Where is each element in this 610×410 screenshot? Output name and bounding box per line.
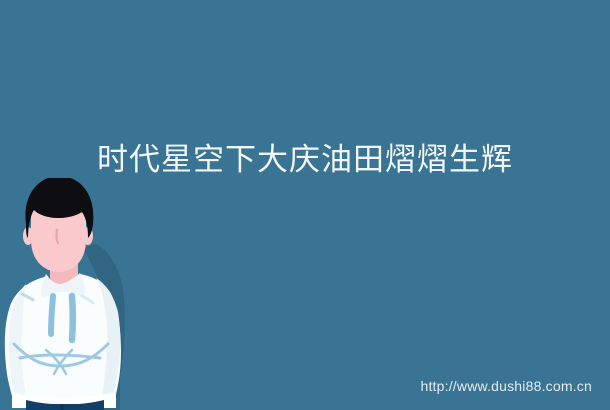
pants-fill bbox=[26, 404, 104, 410]
source-url-watermark: http://www.dushi88.com.cn bbox=[420, 377, 592, 395]
screenshot-canvas: 时代星空下大庆油田熠熠生辉 http://www.dushi88.com.cn bbox=[0, 0, 610, 410]
drawstring-left bbox=[51, 296, 53, 334]
illustration-young-man-in-white-hoodie bbox=[0, 178, 150, 410]
page-title: 时代星空下大庆油田熠熠生辉 bbox=[0, 138, 610, 182]
drawstring-right bbox=[72, 296, 73, 340]
